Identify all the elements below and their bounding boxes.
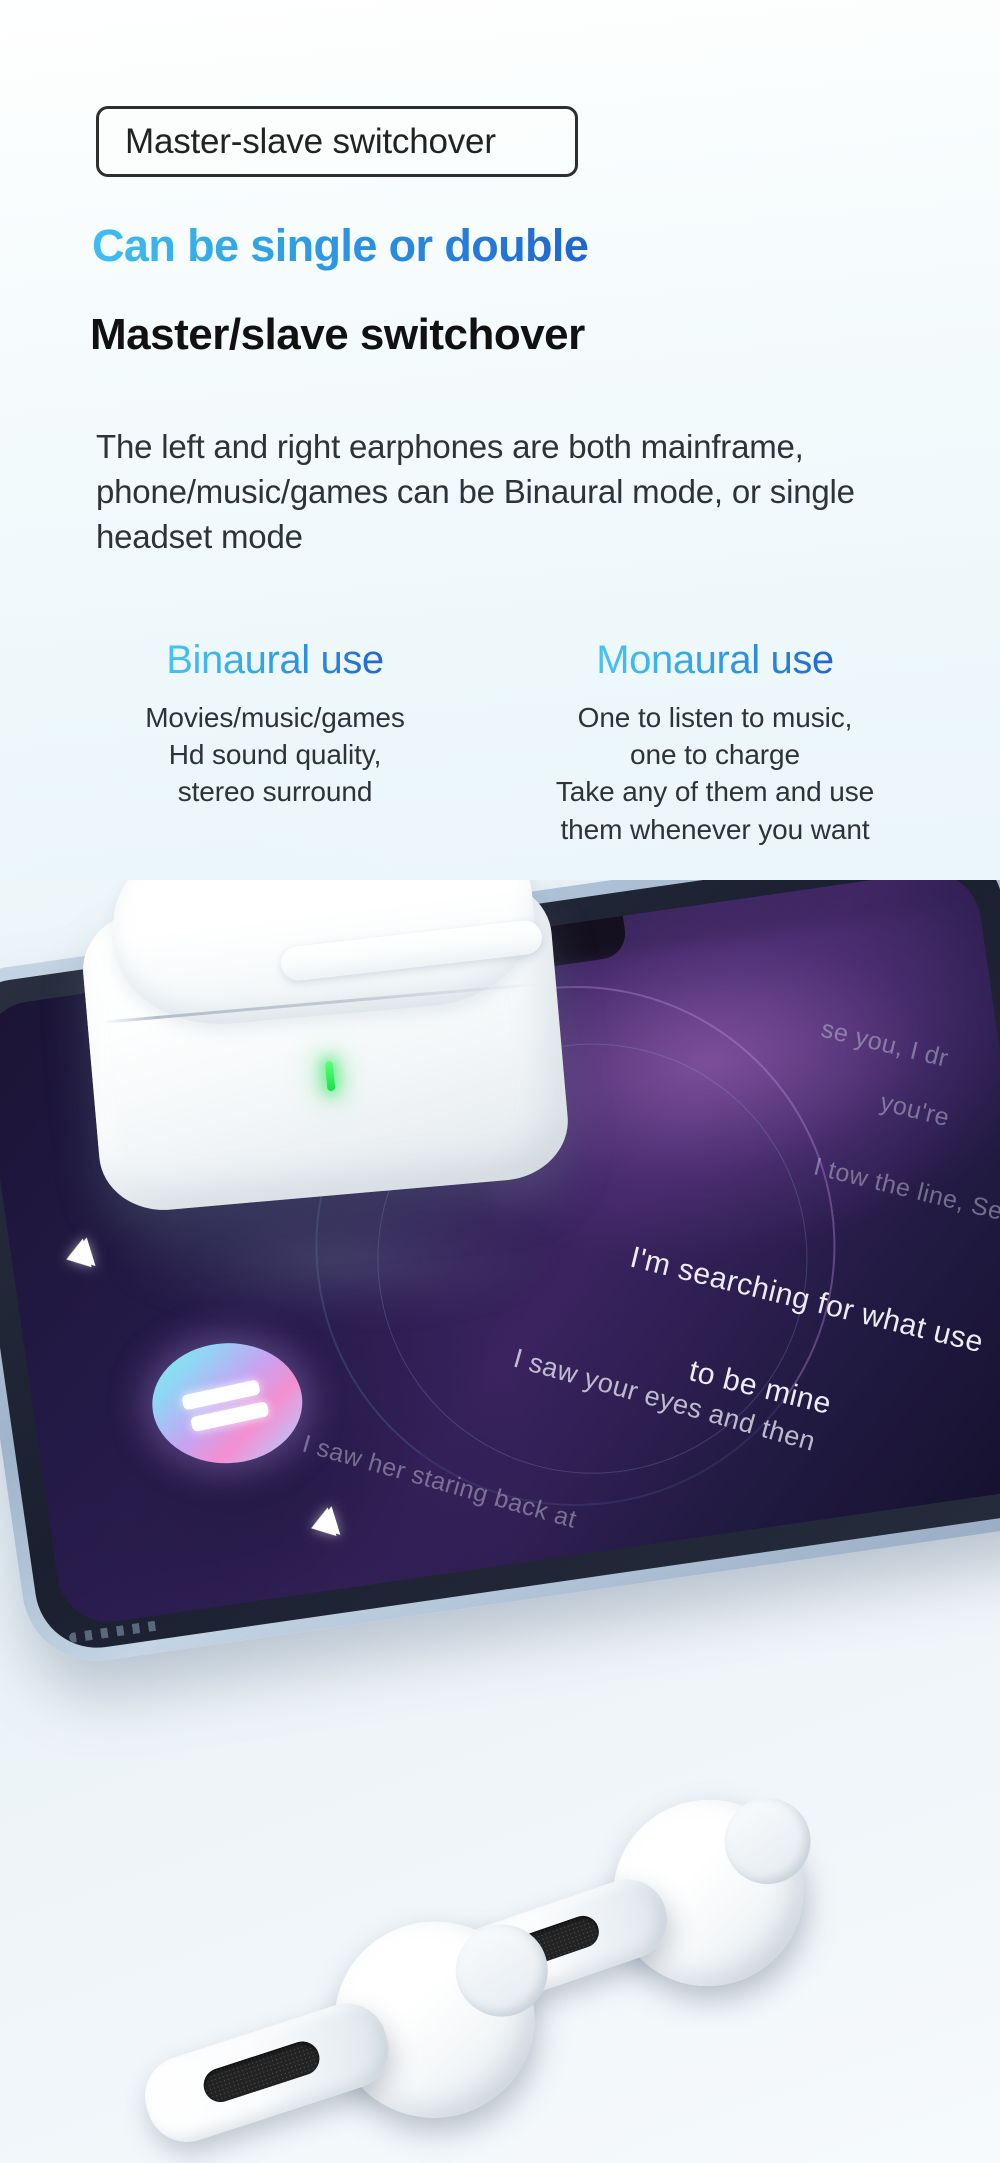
marketing-banner: Master-slave switchover Can be single or… [0,0,1000,2163]
feature-body: One to listen to music,one to chargeTake… [500,699,930,848]
feature-title: Monaural use [596,638,834,683]
album-art [150,1340,304,1466]
section-badge: Master-slave switchover [96,106,578,177]
section-badge-label: Master-slave switchover [125,122,496,162]
product-photo: I saw her staring back at I saw your eye… [0,880,1000,2163]
headline-gradient: Can be single or double [92,220,588,272]
feature-title: Binaural use [166,638,384,683]
charging-case [72,880,588,1275]
feature-body: Movies/music/gamesHd sound quality,stere… [60,699,490,811]
next-track-icon[interactable] [307,1507,337,1542]
hero-description: The left and right earphones are both ma… [96,425,886,560]
headline-primary: Master/slave switchover [90,310,585,360]
previous-track-icon[interactable] [62,1239,92,1274]
feature-column-binaural: Binaural use Movies/music/gamesHd sound … [60,638,490,848]
feature-columns: Binaural use Movies/music/gamesHd sound … [60,638,950,848]
feature-column-monaural: Monaural use One to listen to music,one … [500,638,930,848]
